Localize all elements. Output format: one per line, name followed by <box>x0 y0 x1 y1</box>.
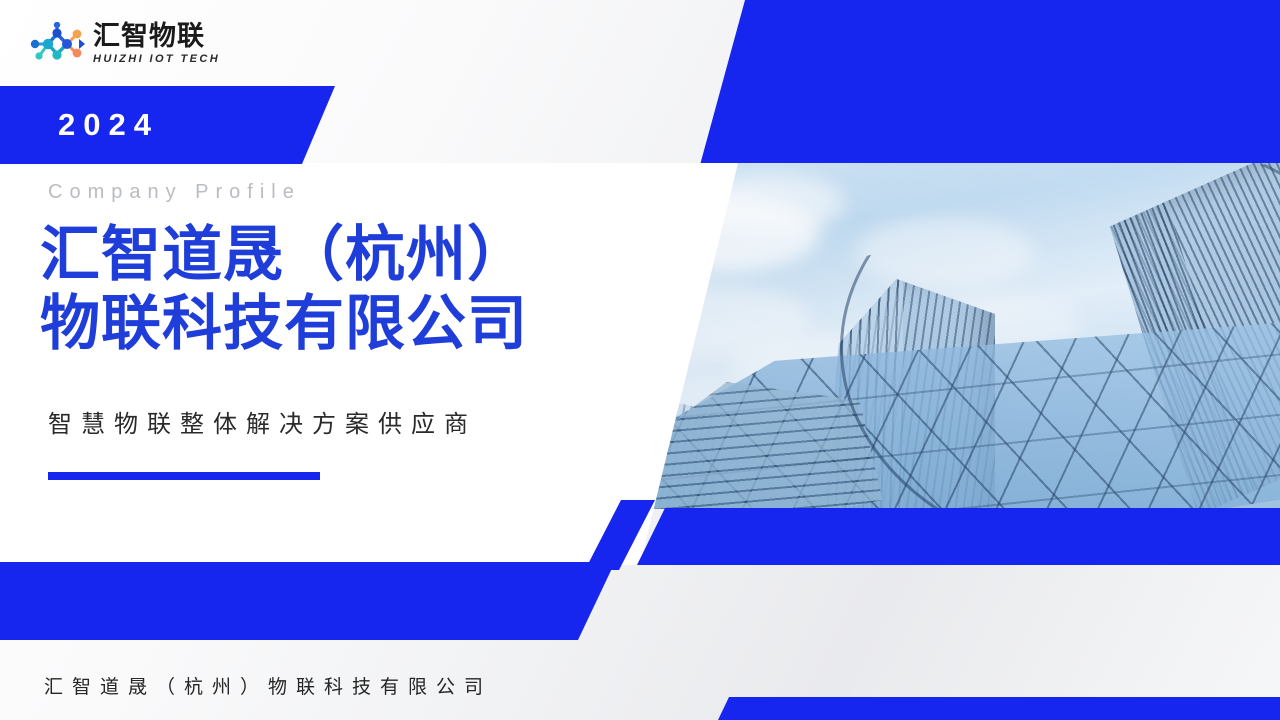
eyebrow-label: Company Profile <box>48 181 301 204</box>
logo-english-name: HUIZHI IOT TECH <box>93 54 220 65</box>
blue-band-bottom-right <box>718 697 1280 720</box>
year-label: 2024 <box>58 107 159 143</box>
logo-wordmark: 汇智物联 HUIZHI IOT TECH <box>93 23 220 65</box>
page-title-line-2: 物联科技有限公司 <box>40 289 720 358</box>
slide-root: 2024 <box>0 0 1280 720</box>
blue-band-mid-right <box>637 508 1280 565</box>
logo-chinese-name: 汇智物联 <box>93 23 220 50</box>
footer-company-name: 汇智道晟（杭州）物联科技有限公司 <box>44 672 492 699</box>
year-banner: 2024 <box>0 86 335 164</box>
company-logo[interactable]: 汇智物联 HUIZHI IOT TECH <box>28 22 220 66</box>
page-title: 汇智道晟（杭州） 物联科技有限公司 <box>40 220 720 358</box>
network-molecule-icon <box>28 22 86 66</box>
page-subtitle: 智慧物联整体解决方案供应商 <box>48 404 477 439</box>
page-title-line-1: 汇智道晟（杭州） <box>40 220 720 289</box>
blue-band-bottom-left <box>0 562 615 640</box>
accent-divider <box>48 472 320 480</box>
blue-band-top-right <box>700 0 1280 165</box>
